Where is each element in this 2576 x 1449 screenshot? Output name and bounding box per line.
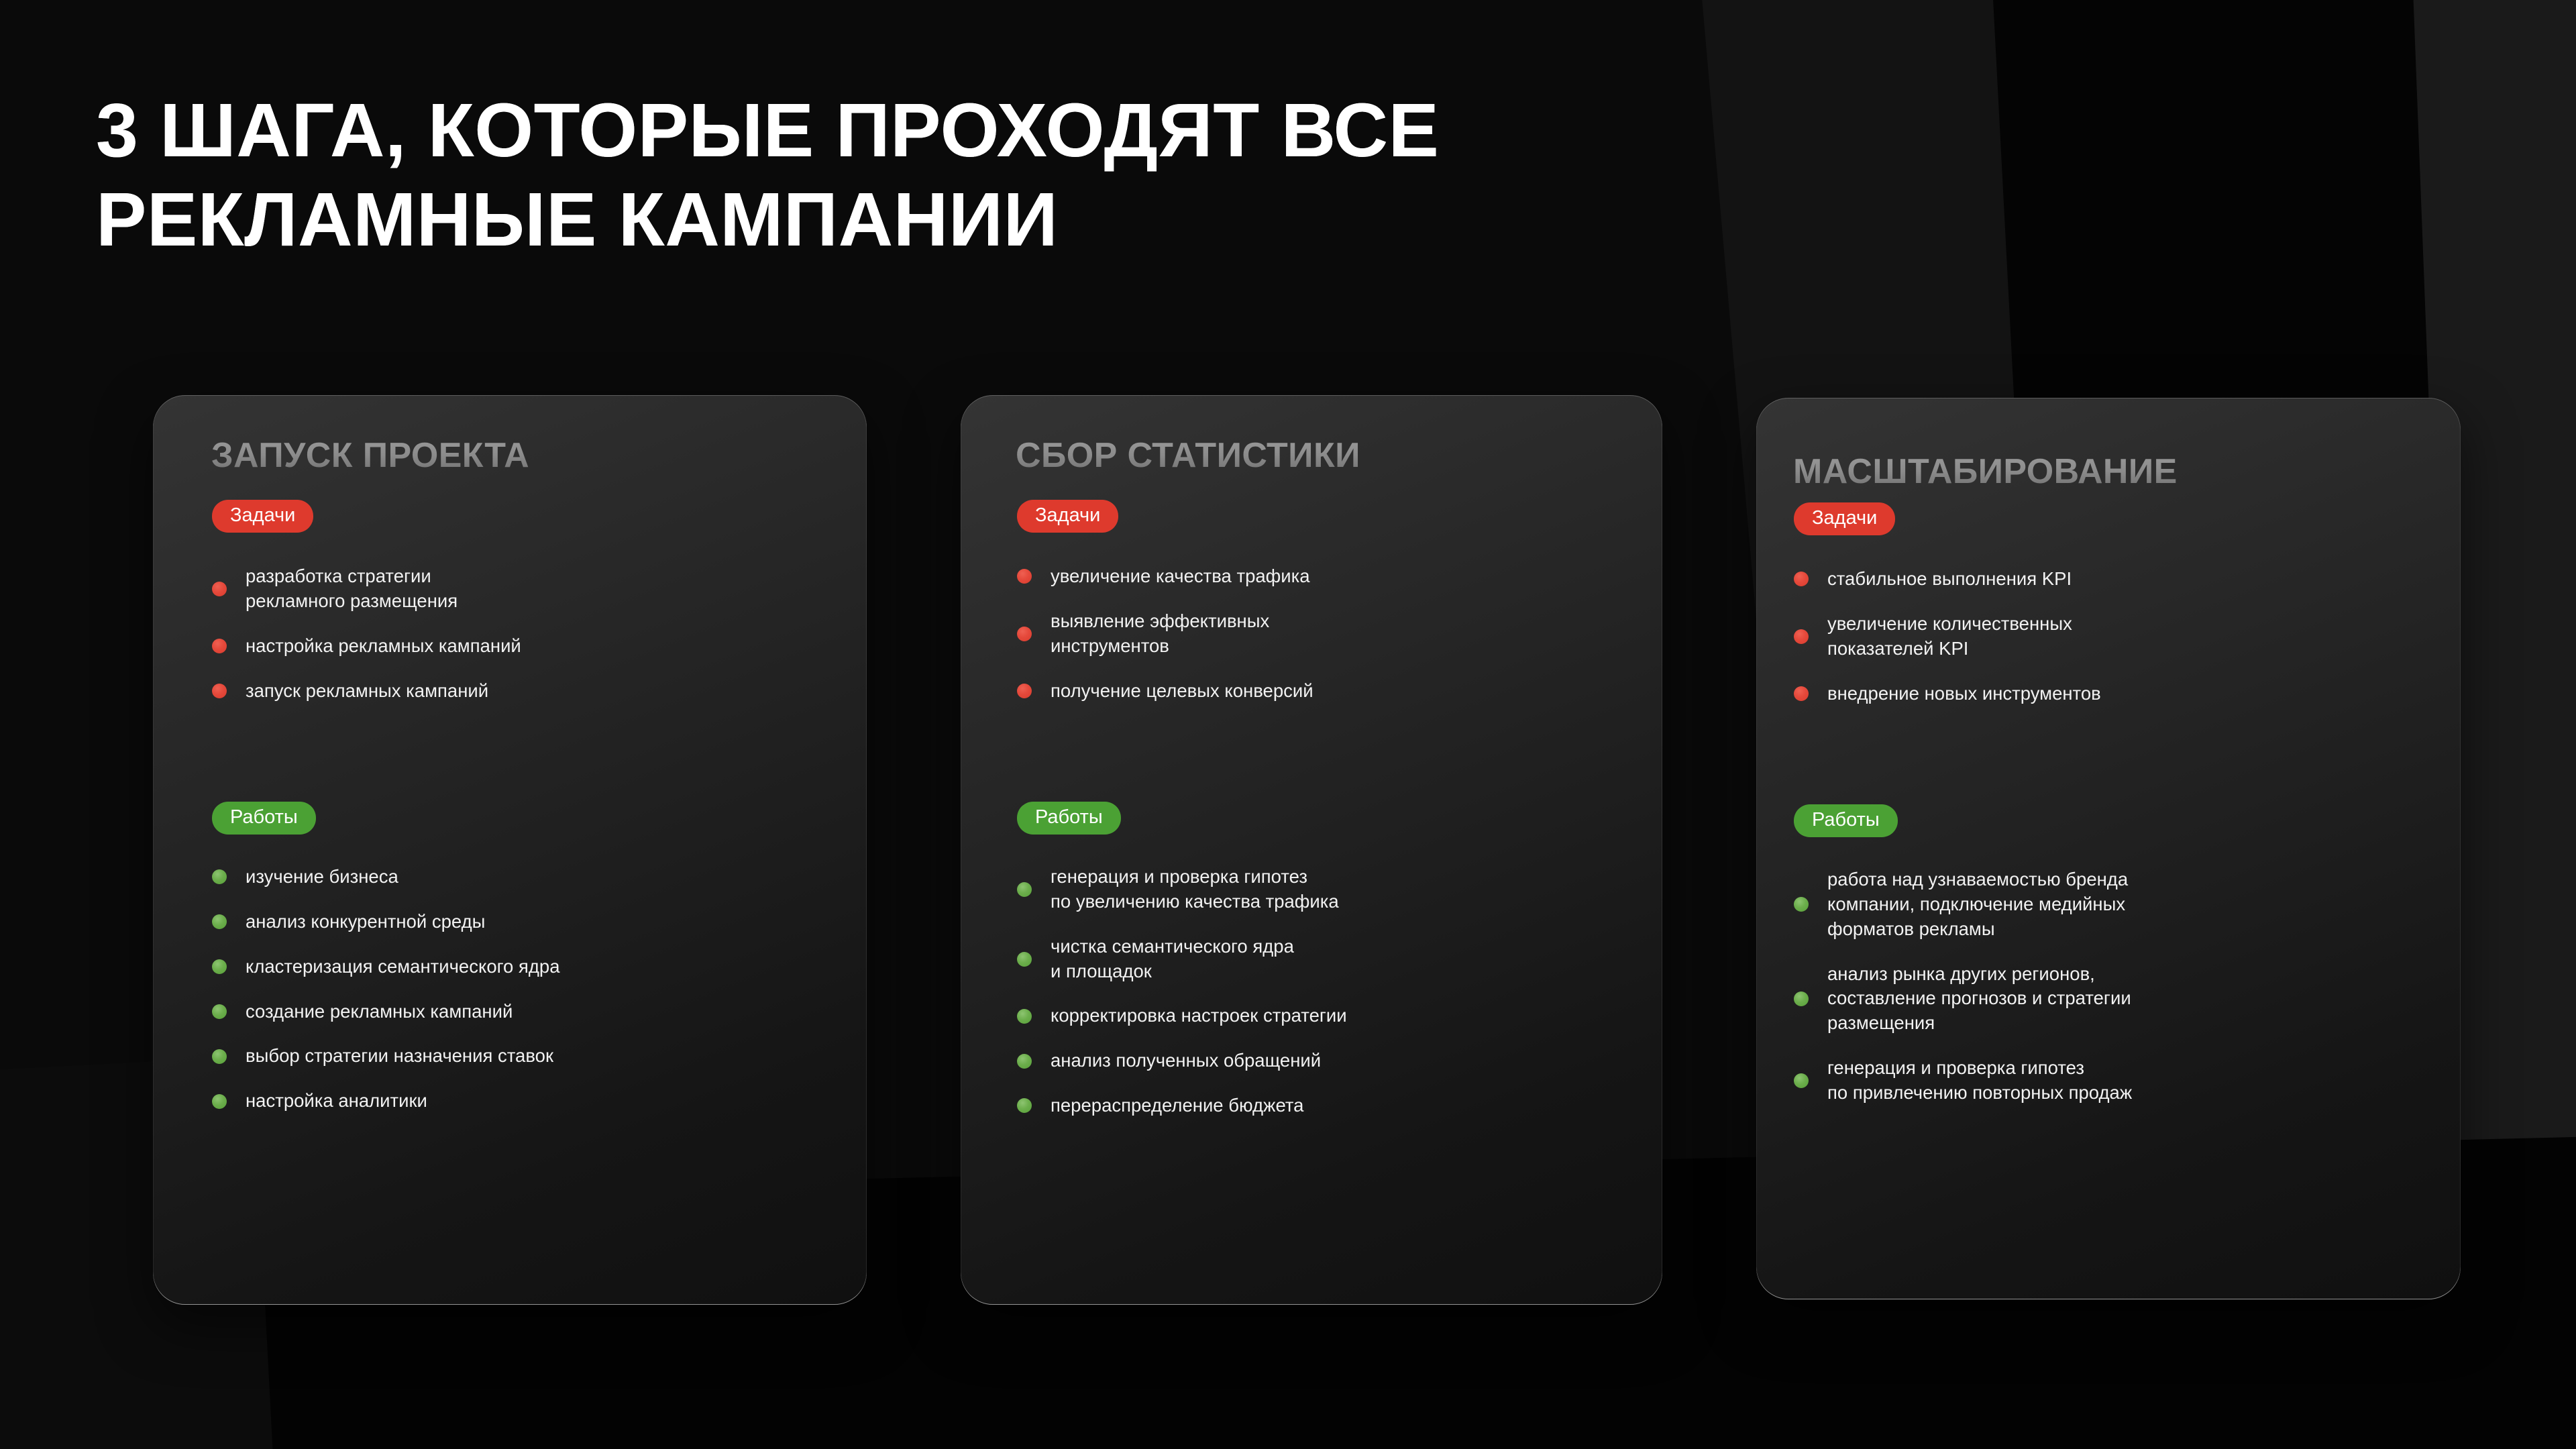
bullet-dot-icon	[1017, 1009, 1032, 1024]
bullet-dot-icon	[1017, 882, 1032, 897]
badge-works: Работы	[1017, 802, 1121, 835]
list-item: увеличение качества трафика	[1017, 564, 1621, 589]
bullet-dot-icon	[212, 1094, 227, 1109]
list-item: разработка стратегии рекламного размещен…	[212, 564, 816, 614]
list-item-label: создание рекламных кампаний	[246, 1000, 513, 1024]
list-item-label: получение целевых конверсий	[1051, 679, 1313, 704]
tasks-list: стабильное выполнения KPI увеличение кол…	[1794, 567, 2398, 726]
list-item-label: разработка стратегии рекламного размещен…	[246, 564, 458, 614]
works-list: генерация и проверка гипотез по увеличен…	[1017, 865, 1621, 1138]
bullet-dot-icon	[1017, 952, 1032, 967]
list-item-label: изучение бизнеса	[246, 865, 398, 890]
card-title: СБОР СТАТИСТИКИ	[1016, 435, 1360, 476]
bullet-dot-icon	[1017, 684, 1032, 698]
slide-title-line-1: 3 ШАГА, КОТОРЫЕ ПРОХОДЯТ ВСЕ	[96, 86, 2041, 175]
bullet-dot-icon	[1794, 572, 1809, 586]
list-item-label: увеличение качества трафика	[1051, 564, 1310, 589]
list-item: анализ рынка других регионов, составлени…	[1794, 962, 2398, 1036]
list-item: генерация и проверка гипотез по увеличен…	[1017, 865, 1621, 914]
tasks-list: разработка стратегии рекламного размещен…	[212, 564, 816, 723]
badge-works: Работы	[1794, 804, 1898, 837]
list-item-label: запуск рекламных кампаний	[246, 679, 488, 704]
card-title: МАСШТАБИРОВАНИЕ	[1793, 451, 2178, 492]
list-item: перераспределение бюджета	[1017, 1093, 1621, 1118]
list-item-label: работа над узнаваемостью бренда компании…	[1827, 867, 2128, 942]
badge-tasks: Задачи	[1017, 500, 1118, 533]
slide-title: 3 ШАГА, КОТОРЫЕ ПРОХОДЯТ ВСЕ РЕКЛАМНЫЕ К…	[96, 86, 2041, 265]
step-card-scaling: МАСШТАБИРОВАНИЕ Задачи стабильное выполн…	[1756, 398, 2461, 1299]
list-item: изучение бизнеса	[212, 865, 816, 890]
list-item: работа над узнаваемостью бренда компании…	[1794, 867, 2398, 942]
list-item-label: анализ полученных обращений	[1051, 1049, 1321, 1073]
list-item: кластеризация семантического ядра	[212, 955, 816, 979]
list-item: корректировка настроек стратегии	[1017, 1004, 1621, 1028]
bullet-dot-icon	[1794, 686, 1809, 701]
bullet-dot-icon	[1017, 627, 1032, 641]
bullet-dot-icon	[1794, 1073, 1809, 1088]
card-content: ЗАПУСК ПРОЕКТА Задачи разработка стратег…	[153, 395, 867, 1305]
list-item: настройка аналитики	[212, 1089, 816, 1114]
list-item: запуск рекламных кампаний	[212, 679, 816, 704]
bullet-dot-icon	[212, 1049, 227, 1064]
list-item-label: корректировка настроек стратегии	[1051, 1004, 1347, 1028]
list-item: анализ полученных обращений	[1017, 1049, 1621, 1073]
slide-title-line-2: РЕКЛАМНЫЕ КАМПАНИИ	[96, 175, 2041, 264]
list-item-label: выбор стратегии назначения ставок	[246, 1044, 553, 1069]
badge-tasks: Задачи	[1794, 502, 1895, 535]
list-item-label: генерация и проверка гипотез по привлече…	[1827, 1056, 2132, 1106]
list-item: увеличение количественных показателей KP…	[1794, 612, 2398, 661]
bullet-dot-icon	[1794, 991, 1809, 1006]
list-item-label: кластеризация семантического ядра	[246, 955, 560, 979]
works-list: работа над узнаваемостью бренда компании…	[1794, 867, 2398, 1126]
list-item: внедрение новых инструментов	[1794, 682, 2398, 706]
list-item: выявление эффективных инструментов	[1017, 609, 1621, 659]
list-item: генерация и проверка гипотез по привлече…	[1794, 1056, 2398, 1106]
list-item-label: перераспределение бюджета	[1051, 1093, 1303, 1118]
tasks-list: увеличение качества трафика выявление эф…	[1017, 564, 1621, 723]
works-list: изучение бизнеса анализ конкурентной сре…	[212, 865, 816, 1134]
list-item: выбор стратегии назначения ставок	[212, 1044, 816, 1069]
badge-works: Работы	[212, 802, 316, 835]
bullet-dot-icon	[212, 684, 227, 698]
list-item: настройка рекламных кампаний	[212, 634, 816, 659]
bullet-dot-icon	[1794, 629, 1809, 644]
badge-tasks: Задачи	[212, 500, 313, 533]
bullet-dot-icon	[212, 914, 227, 929]
bullet-dot-icon	[1017, 569, 1032, 584]
card-title: ЗАПУСК ПРОЕКТА	[211, 435, 529, 476]
list-item-label: настройка рекламных кампаний	[246, 634, 521, 659]
step-card-launch: ЗАПУСК ПРОЕКТА Задачи разработка стратег…	[153, 395, 867, 1305]
list-item-label: внедрение новых инструментов	[1827, 682, 2101, 706]
list-item: анализ конкурентной среды	[212, 910, 816, 934]
list-item-label: выявление эффективных инструментов	[1051, 609, 1269, 659]
list-item-label: генерация и проверка гипотез по увеличен…	[1051, 865, 1339, 914]
bullet-dot-icon	[1017, 1098, 1032, 1113]
step-card-statistics: СБОР СТАТИСТИКИ Задачи увеличение качест…	[961, 395, 1662, 1305]
list-item: получение целевых конверсий	[1017, 679, 1621, 704]
bullet-dot-icon	[212, 959, 227, 974]
list-item: стабильное выполнения KPI	[1794, 567, 2398, 592]
card-content: СБОР СТАТИСТИКИ Задачи увеличение качест…	[961, 395, 1662, 1305]
list-item: чистка семантического ядра и площадок	[1017, 934, 1621, 984]
list-item-label: чистка семантического ядра и площадок	[1051, 934, 1294, 984]
bullet-dot-icon	[212, 869, 227, 884]
list-item-label: анализ конкурентной среды	[246, 910, 485, 934]
bullet-dot-icon	[1794, 897, 1809, 912]
bullet-dot-icon	[212, 639, 227, 653]
list-item-label: увеличение количественных показателей KP…	[1827, 612, 2072, 661]
card-content: МАСШТАБИРОВАНИЕ Задачи стабильное выполн…	[1756, 398, 2461, 1299]
bullet-dot-icon	[1017, 1054, 1032, 1069]
list-item-label: настройка аналитики	[246, 1089, 427, 1114]
list-item-label: анализ рынка других регионов, составлени…	[1827, 962, 2131, 1036]
bullet-dot-icon	[212, 582, 227, 596]
bullet-dot-icon	[212, 1004, 227, 1019]
list-item: создание рекламных кампаний	[212, 1000, 816, 1024]
list-item-label: стабильное выполнения KPI	[1827, 567, 2072, 592]
